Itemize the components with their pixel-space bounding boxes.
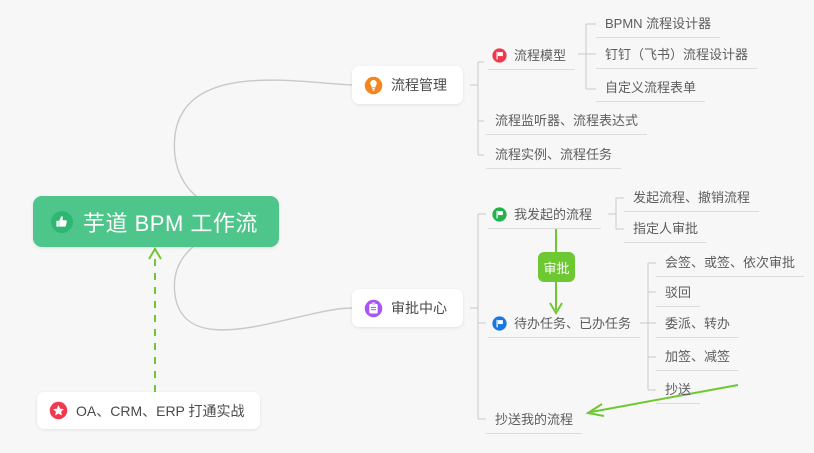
- branch-label-shenpi-zhongxin: 审批中心: [391, 298, 447, 318]
- topic-label: 抄送: [665, 382, 691, 397]
- topic-reject[interactable]: 驳回: [656, 281, 700, 307]
- topic-custom-form[interactable]: 自定义流程表单: [596, 76, 705, 102]
- topic-label: 委派、转办: [665, 316, 730, 331]
- topic-label: BPMN 流程设计器: [605, 16, 711, 31]
- topic-label: 流程模型: [514, 47, 566, 64]
- topic-label: 指定人审批: [633, 221, 698, 236]
- topic-dingding-feishu-designer[interactable]: 钉钉（飞书）流程设计器: [596, 43, 757, 69]
- lightbulb-icon: [364, 76, 383, 95]
- topic-bpmn-designer[interactable]: BPMN 流程设计器: [596, 12, 720, 38]
- connector-liuchengmoxing-tree: [586, 24, 596, 89]
- approval-tag-label: 审批: [543, 258, 569, 277]
- topic-delegate-transfer[interactable]: 委派、转办: [656, 312, 739, 338]
- branch-node-shenpi-zhongxin[interactable]: 审批中心: [352, 289, 463, 327]
- topic-cc[interactable]: 抄送: [656, 378, 700, 404]
- topic-start-cancel-process[interactable]: 发起流程、撤销流程: [624, 186, 759, 212]
- topic-assigned-approval[interactable]: 指定人审批: [624, 217, 707, 243]
- arrow-integration-flow-head: [149, 249, 161, 259]
- topic-label: 流程监听器、流程表达式: [495, 113, 638, 128]
- root-label: 芋道 BPM 工作流: [83, 206, 258, 238]
- integration-card-label: OA、CRM、ERP 打通实战: [76, 401, 245, 421]
- topic-label: 流程实例、流程任务: [495, 147, 612, 162]
- flag-icon: [492, 207, 507, 222]
- approval-tag-badge: 审批: [538, 252, 575, 282]
- topic-countersign-modes[interactable]: 会签、或签、依次审批: [656, 251, 804, 277]
- topic-label: 会签、或签、依次审批: [665, 255, 795, 270]
- topic-label: 我发起的流程: [514, 206, 592, 223]
- topic-instance-task[interactable]: 流程实例、流程任务: [486, 143, 621, 169]
- mindmap-canvas: 芋道 BPM 工作流 流程管理 流程模型 BPMN 流程设计器 钉钉（飞书: [0, 0, 814, 453]
- connector-liucheng-tree: [478, 62, 484, 155]
- clipboard-icon: [364, 299, 383, 318]
- topic-label: 自定义流程表单: [605, 80, 696, 95]
- topic-label: 加签、减签: [665, 349, 730, 364]
- topic-label: 发起流程、撤销流程: [633, 190, 750, 205]
- root-node[interactable]: 芋道 BPM 工作流: [33, 196, 279, 247]
- branch-node-liucheng-guanli[interactable]: 流程管理: [352, 66, 463, 104]
- star-icon: [49, 401, 68, 420]
- flag-icon: [492, 316, 507, 331]
- topic-my-initiated-process[interactable]: 我发起的流程: [488, 203, 601, 229]
- integration-card-node[interactable]: OA、CRM、ERP 打通实战: [37, 392, 260, 429]
- arrow-cc-flow-head: [588, 404, 604, 416]
- topic-cc-to-me-process[interactable]: 抄送我的流程: [486, 408, 582, 434]
- connector-daiban-tree: [648, 263, 656, 390]
- flag-icon: [492, 48, 507, 63]
- topic-liucheng-moxing[interactable]: 流程模型: [488, 44, 575, 70]
- branch-label-liucheng-guanli: 流程管理: [391, 75, 447, 95]
- topic-label: 钉钉（飞书）流程设计器: [605, 47, 748, 62]
- thumbs-up-icon: [50, 210, 74, 234]
- topic-listener-expression[interactable]: 流程监听器、流程表达式: [486, 109, 647, 135]
- connector-shenpi-tree: [478, 214, 486, 419]
- topic-todo-done-tasks[interactable]: 待办任务、已办任务: [488, 312, 640, 338]
- topic-label: 抄送我的流程: [495, 412, 573, 427]
- connector-wofaqi-tree: [616, 198, 624, 229]
- topic-add-remove-sign[interactable]: 加签、减签: [656, 345, 739, 371]
- topic-label: 待办任务、已办任务: [514, 315, 631, 332]
- topic-label: 驳回: [665, 285, 691, 300]
